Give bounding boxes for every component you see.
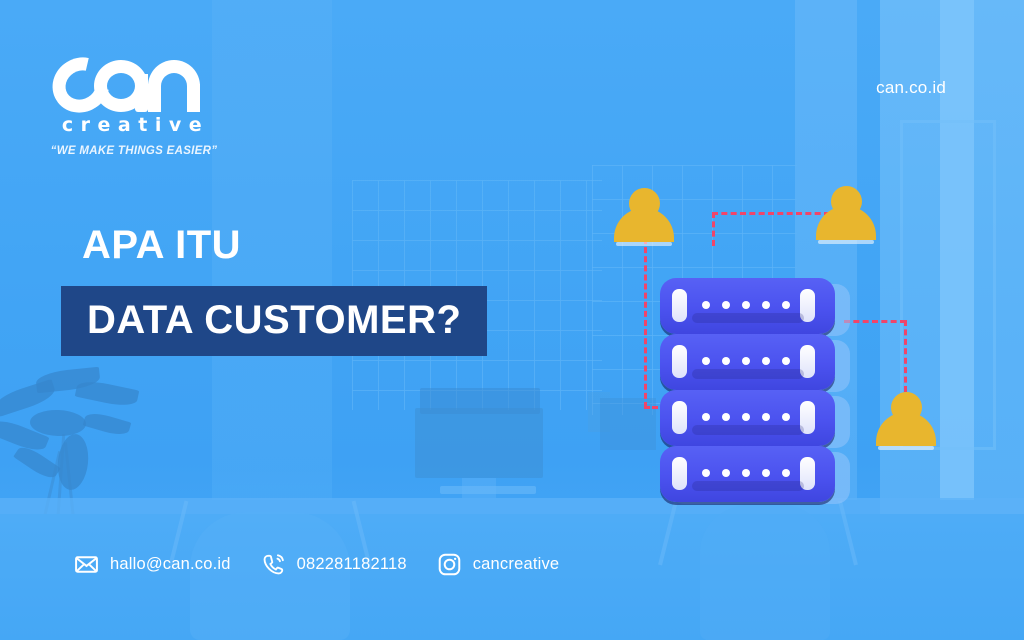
user-body — [614, 208, 674, 242]
server-led — [722, 469, 730, 477]
server-groove — [692, 425, 804, 435]
logo-wordmark: creative — [32, 114, 232, 136]
server-led — [722, 413, 730, 421]
headline-line-2: DATA CUSTOMER? — [87, 300, 461, 340]
brand-logo: creative “WE MAKE THINGS EASIER” — [32, 44, 232, 157]
connector-line-left-vertical — [644, 238, 647, 408]
user-shadow — [878, 446, 934, 450]
user-shadow — [818, 240, 874, 244]
contact-email[interactable]: hallo@can.co.id — [74, 552, 231, 577]
background-chair-right — [700, 505, 830, 640]
contact-instagram-label: cancreative — [473, 555, 560, 574]
user-body — [876, 412, 936, 446]
user-icon-top-left — [614, 188, 674, 246]
contact-bar: hallo@can.co.id 082281182118 cancrea — [74, 552, 559, 577]
server-led — [782, 413, 790, 421]
server-groove — [692, 481, 804, 491]
server-led — [742, 301, 750, 309]
user-body — [816, 206, 876, 240]
server-led — [762, 301, 770, 309]
poster-canvas: creative “WE MAKE THINGS EASIER” can.co.… — [0, 0, 1024, 640]
server-led — [762, 469, 770, 477]
server-led — [722, 357, 730, 365]
server-unit — [660, 446, 835, 502]
connector-line-right-vertical — [904, 320, 907, 392]
headline-line-1: APA ITU — [82, 225, 487, 265]
server-led — [702, 413, 710, 421]
server-led — [762, 357, 770, 365]
server-led — [702, 357, 710, 365]
user-icon-top-right — [816, 186, 876, 244]
user-shadow — [616, 242, 672, 246]
server-led — [702, 301, 710, 309]
logomark-letter-n-left — [148, 84, 161, 112]
connector-line-top-horizontal — [712, 212, 830, 215]
background-keyboard — [440, 486, 536, 494]
contact-phone[interactable]: 082281182118 — [261, 552, 407, 577]
server-led — [762, 413, 770, 421]
server-endcap-left — [672, 457, 687, 490]
server-groove — [692, 313, 804, 323]
server-unit — [660, 334, 835, 390]
server-led — [782, 469, 790, 477]
logomark-letter-a-stem — [135, 74, 148, 112]
server-groove — [692, 369, 804, 379]
server-stack — [660, 278, 865, 508]
page-title: APA ITU DATA CUSTOMER? — [82, 225, 487, 356]
connector-line-top-vertical — [712, 212, 715, 246]
headline-banner: DATA CUSTOMER? — [61, 286, 487, 356]
contact-phone-label: 082281182118 — [297, 555, 407, 574]
server-led — [742, 413, 750, 421]
server-led — [782, 301, 790, 309]
server-unit — [660, 278, 835, 334]
contact-email-label: hallo@can.co.id — [110, 555, 231, 574]
phone-icon — [261, 552, 286, 577]
server-led — [742, 357, 750, 365]
logomark-letter-n-right — [187, 84, 200, 112]
server-endcap-left — [672, 289, 687, 322]
server-led — [722, 301, 730, 309]
instagram-icon — [437, 552, 462, 577]
logo-tagline: “WE MAKE THINGS EASIER” — [32, 145, 232, 157]
user-icon-bottom-right — [876, 392, 936, 450]
background-monitor — [415, 408, 543, 478]
contact-instagram[interactable]: cancreative — [437, 552, 560, 577]
background-desk-front — [0, 514, 1024, 640]
server-led — [782, 357, 790, 365]
envelope-icon — [74, 552, 99, 577]
server-led — [702, 469, 710, 477]
server-unit — [660, 390, 835, 446]
server-led — [742, 469, 750, 477]
server-endcap-left — [672, 345, 687, 378]
server-endcap-left — [672, 401, 687, 434]
site-url[interactable]: can.co.id — [876, 78, 946, 98]
network-illustration — [600, 190, 1020, 520]
can-logomark-icon — [50, 44, 210, 112]
